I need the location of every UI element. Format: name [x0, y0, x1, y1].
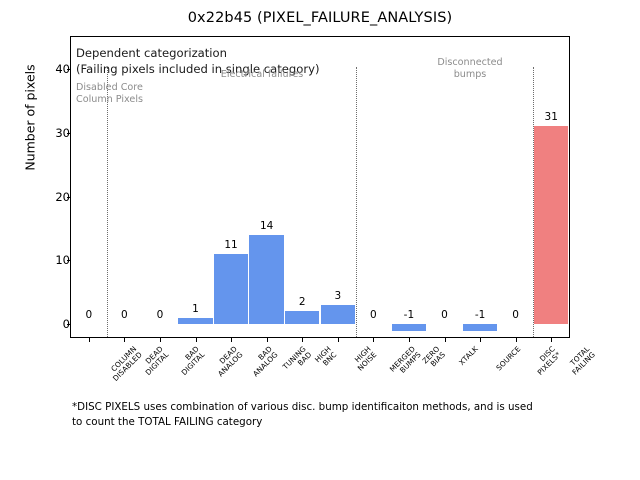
- x-tick-label: MERGED BUMPS: [389, 345, 424, 380]
- x-tick-label: DISC PIXELS*: [530, 345, 562, 377]
- y-tick-mark: [67, 69, 71, 70]
- y-tick-label: 40: [30, 62, 70, 76]
- y-tick-label: 0: [30, 317, 70, 331]
- bar[interactable]: [178, 318, 213, 324]
- x-tick-mark: [445, 338, 446, 342]
- y-tick-mark: [67, 260, 71, 261]
- y-tick-mark: [67, 133, 71, 134]
- figure-canvas: 0x22b45 (PIXEL_FAILURE_ANALYSIS) Number …: [0, 0, 640, 480]
- x-tick-label: XTALK: [457, 345, 479, 367]
- x-tick-mark: [302, 338, 303, 342]
- footnote-line2: to count the TOTAL FAILING category: [72, 415, 572, 430]
- bar[interactable]: [214, 254, 249, 324]
- bar[interactable]: [392, 324, 427, 330]
- x-tick-label: HIGH BNC: [314, 345, 339, 370]
- x-tick-label: DEAD DIGITAL: [139, 345, 171, 377]
- bar[interactable]: [534, 126, 569, 324]
- x-tick-label: TOTAL FAILING: [566, 345, 598, 377]
- x-tick-mark: [480, 338, 481, 342]
- x-tick-mark: [551, 338, 552, 342]
- annotation-group-electrical-failures: Electrical failures: [221, 69, 303, 81]
- x-tick-mark: [267, 338, 268, 342]
- y-tick-mark: [67, 197, 71, 198]
- x-tick-label: TUNING BAD: [281, 345, 313, 377]
- annotation-group-disconnected-bumps-line2: bumps: [454, 69, 487, 81]
- annotation-group-disabled-core-line1: Disabled Core: [76, 82, 143, 94]
- x-tick-label: HIGH NOISE: [351, 345, 379, 373]
- annotation-main-line1: Dependent categorization: [76, 46, 227, 61]
- x-tick-mark: [373, 338, 374, 342]
- bars-layer: [71, 37, 569, 337]
- bar[interactable]: [249, 235, 284, 324]
- x-tick-mark: [231, 338, 232, 342]
- y-tick-mark: [67, 324, 71, 325]
- y-tick-label: 10: [30, 253, 70, 267]
- x-tick-label: SOURCE: [495, 345, 523, 373]
- annotation-group-disconnected-bumps-line1: Disconnected: [437, 57, 502, 69]
- bar[interactable]: [321, 305, 356, 324]
- bar[interactable]: [285, 311, 320, 324]
- x-tick-mark: [516, 338, 517, 342]
- x-tick-mark: [338, 338, 339, 342]
- x-tick-mark: [409, 338, 410, 342]
- x-tick-mark: [196, 338, 197, 342]
- y-axis: Number of pixels 010203040: [0, 0, 70, 480]
- footnote: *DISC PIXELS uses combination of various…: [72, 400, 572, 429]
- y-tick-label: 30: [30, 126, 70, 140]
- x-tick-mark: [89, 338, 90, 342]
- x-tick-label: ZERO BIAS: [421, 345, 447, 371]
- footnote-line1: *DISC PIXELS uses combination of various…: [72, 400, 572, 415]
- x-tick-label: BAD ANALOG: [246, 345, 280, 379]
- x-tick-mark: [160, 338, 161, 342]
- y-tick-label: 20: [30, 190, 70, 204]
- bar[interactable]: [463, 324, 498, 330]
- x-tick-label: BAD DIGITAL: [174, 345, 206, 377]
- x-tick-mark: [124, 338, 125, 342]
- chart-title: 0x22b45 (PIXEL_FAILURE_ANALYSIS): [0, 10, 640, 26]
- x-tick-label: DEAD ANALOG: [211, 345, 245, 379]
- annotation-group-disabled-core-line2: Column Pixels: [76, 94, 143, 106]
